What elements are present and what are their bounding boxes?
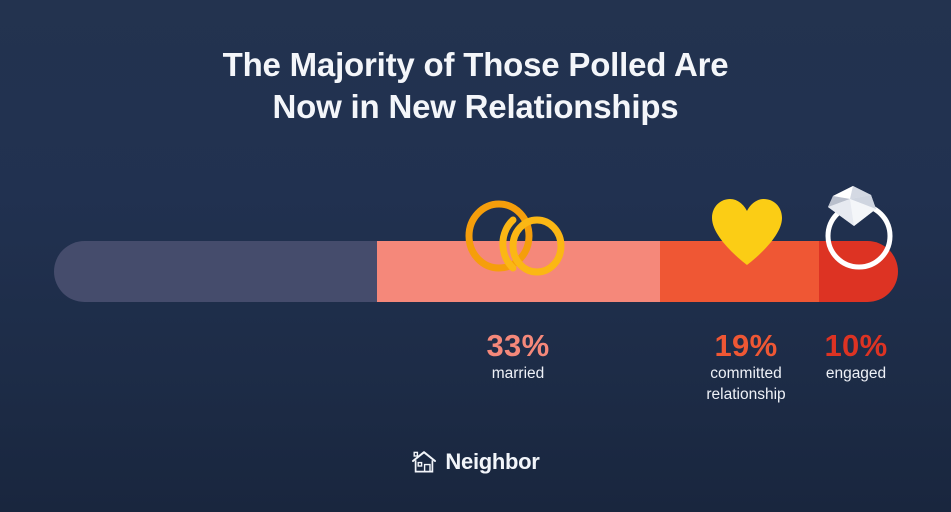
title-line-1: The Majority of Those Polled Are — [0, 44, 951, 86]
brand-name: Neighbor — [445, 449, 539, 475]
caption-committed-line-2: relationship — [666, 384, 826, 405]
label-married: 33% married — [438, 329, 598, 384]
page-title: The Majority of Those Polled Are Now in … — [0, 44, 951, 128]
house-icon — [411, 449, 437, 475]
percent-engaged: 10% — [786, 329, 926, 363]
engagement-ring-icon — [820, 182, 898, 272]
bar-segment-other — [54, 241, 377, 302]
caption-engaged: engaged — [786, 363, 926, 384]
percent-married: 33% — [438, 329, 598, 363]
brand-logo: Neighbor — [0, 449, 951, 475]
caption-married: married — [438, 363, 598, 384]
wedding-rings-icon — [463, 196, 573, 276]
label-engaged: 10% engaged — [786, 329, 926, 384]
heart-icon — [710, 198, 784, 266]
title-line-2: Now in New Relationships — [0, 86, 951, 128]
infographic-canvas: The Majority of Those Polled Are Now in … — [0, 0, 951, 512]
